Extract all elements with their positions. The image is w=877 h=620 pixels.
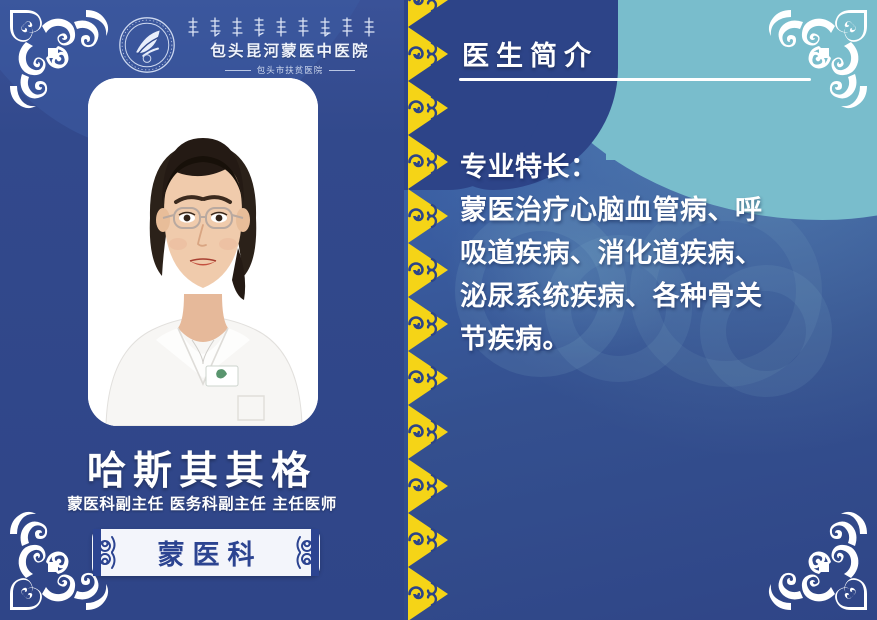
hospital-name-block: 包头昆河蒙医中医院 包头市扶贫医院 <box>185 14 395 76</box>
hospital-leaf-emblem-icon <box>118 16 176 74</box>
doctor-portrait-photo <box>88 78 318 426</box>
mongolian-vertical-script-icon <box>185 16 395 38</box>
hospital-name: 包头昆河蒙医中医院 <box>210 39 369 61</box>
hospital-subtitle: 包头市扶贫医院 <box>225 64 356 76</box>
filigree-corner-icon <box>763 506 875 618</box>
profile-line: 节疾病。 <box>460 318 850 361</box>
filigree-corner-icon <box>763 2 875 114</box>
profile-line: 泌尿系统疾病、各种骨关 <box>460 275 850 318</box>
title-underline <box>459 78 811 81</box>
doctor-photo <box>88 78 318 426</box>
doctor-titles: 蒙医科副主任 医务科副主任 主任医师 <box>0 492 404 514</box>
hospital-subtitle-text: 包头市扶贫医院 <box>257 64 324 76</box>
mongolian-triangle-scroll-divider-icon <box>406 0 450 620</box>
profile-line: 蒙医治疗心脑血管病、呼 <box>460 189 850 232</box>
doctor-profile-poster: 包头昆河蒙医中医院 包头市扶贫医院 <box>0 0 877 620</box>
hospital-branding: 包头昆河蒙医中医院 包头市扶贫医院 <box>118 14 395 76</box>
profile-line: 吸道疾病、消化道疾病、 <box>460 232 850 275</box>
doctor-name: 哈斯其其格 <box>0 440 404 496</box>
scroll-flourish-icon <box>93 529 119 576</box>
profile-line: 专业特长： <box>460 146 850 189</box>
page-title: 医生简介 <box>462 34 598 73</box>
scroll-flourish-icon <box>293 529 319 576</box>
ornamental-divider <box>406 0 450 620</box>
subtitle-rule-right <box>329 70 355 71</box>
profile-body: 专业特长： 蒙医治疗心脑血管病、呼 吸道疾病、消化道疾病、 泌尿系统疾病、各种骨… <box>460 146 850 361</box>
subtitle-rule-left <box>225 70 251 71</box>
department-badge: 蒙医科 <box>92 529 320 576</box>
department-label: 蒙医科 <box>150 533 263 572</box>
